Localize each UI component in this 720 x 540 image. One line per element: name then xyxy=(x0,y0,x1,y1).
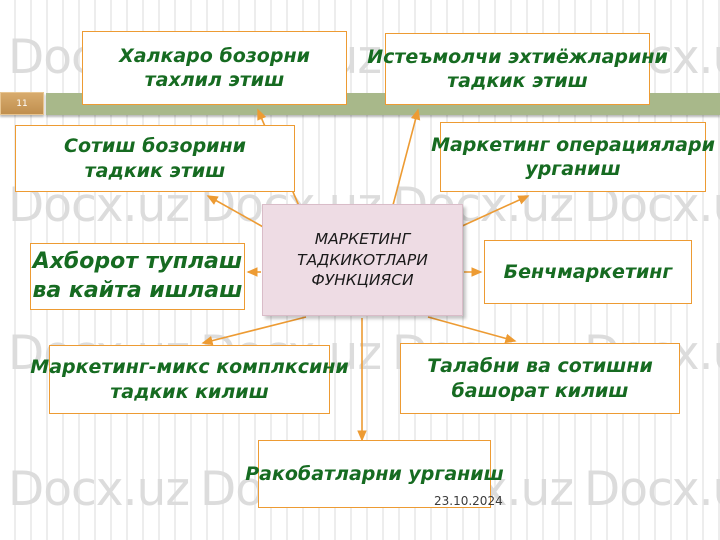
node-ahborot-tuplash-va-kayta-ishlash[interactable]: Ахборот туплашва кайта ишлаш xyxy=(30,243,245,310)
node-label: Ракобатларни урганиш xyxy=(245,462,504,486)
arrow-to-talabni xyxy=(428,317,515,341)
node-halkaro-bozorni-tahlil-etish[interactable]: Халкаро бозорнитахлил этиш xyxy=(82,31,347,105)
arrow-to-operatsiyalari xyxy=(460,196,528,227)
node-label: Маркетинг-микс комплксинитадкик килиш xyxy=(30,355,348,404)
node-label: Халкаро бозорнитахлил этиш xyxy=(119,44,310,93)
node-marketing-miks-kompleksini-tadkik-kilish[interactable]: Маркетинг-микс комплксинитадкик килиш xyxy=(49,345,330,414)
arrow-to-marketing-miks xyxy=(203,317,306,343)
arrow-to-sotish xyxy=(208,196,265,228)
node-benchmarketing[interactable]: Бенчмаркетинг xyxy=(484,240,692,304)
node-marketing-operatsiyalari-urganish[interactable]: Маркетинг операциялариурганиш xyxy=(440,122,706,192)
node-label: Истеъмолчи эхтиёжларинитадкик этиш xyxy=(367,45,668,94)
node-label: Бенчмаркетинг xyxy=(504,260,673,284)
arrow-to-isteomolchi xyxy=(393,110,418,205)
node-label: Ахборот туплашва кайта ишлаш xyxy=(33,248,243,304)
node-label: Талабни ва сотишнибашорат килиш xyxy=(427,354,653,403)
hub-label: МАРКЕТИНГТАДКИКОТЛАРИФУНКЦИЯСИ xyxy=(297,229,428,291)
node-isteomolchi-ehtiyojlarini-tadkik-etish[interactable]: Истеъмолчи эхтиёжларинитадкик этиш xyxy=(385,33,650,105)
footer-date: 23.10.2024 xyxy=(434,494,503,508)
node-talabni-va-sotishni-bashorat-kilish[interactable]: Талабни ва сотишнибашорат килиш xyxy=(400,343,680,414)
hub-marketing-research-functions[interactable]: МАРКЕТИНГТАДКИКОТЛАРИФУНКЦИЯСИ xyxy=(262,204,463,316)
node-sotish-bozorini-tadkik-etish[interactable]: Сотиш бозоринитадкик этиш xyxy=(15,125,295,192)
node-label: Маркетинг операциялариурганиш xyxy=(431,133,715,182)
presentation-slide: Docx.uzDocx.uzDocx.uzDocx.uzDocx.uzDocx.… xyxy=(0,0,720,540)
node-label: Сотиш бозоринитадкик этиш xyxy=(64,134,246,183)
